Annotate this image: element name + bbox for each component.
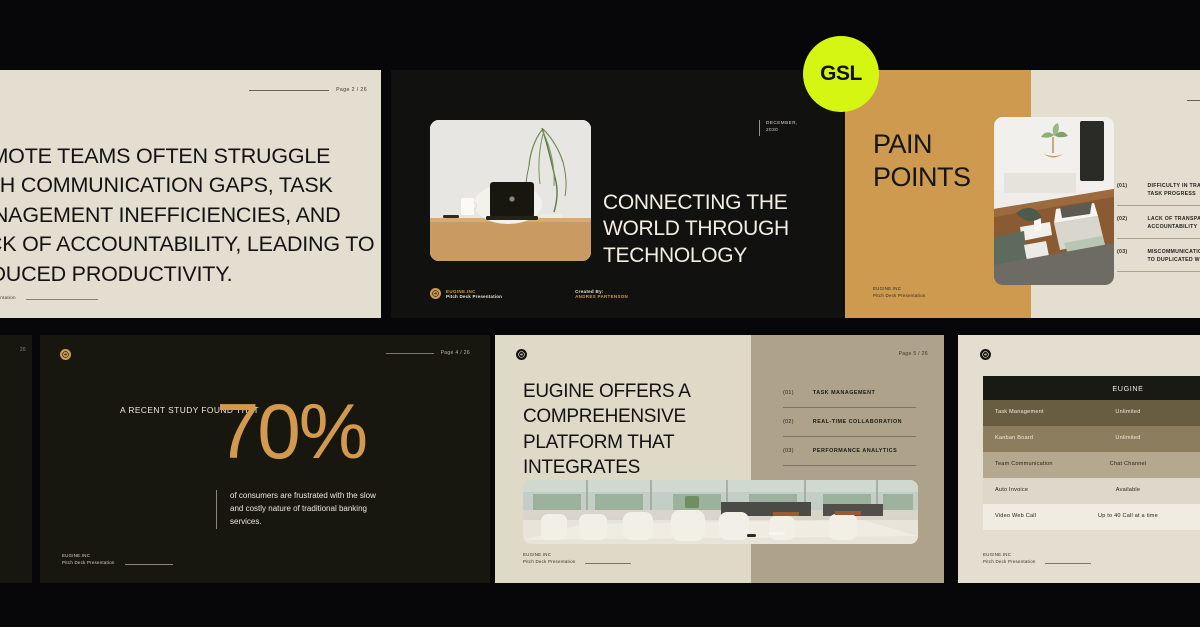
slide-title-cover[interactable]: DECEMBER, 2030 CONNECTING THE WORLD THRO… xyxy=(391,70,859,318)
list-item[interactable]: (02) LACK OF TRANSPARENT ACCOUNTABILITY xyxy=(1117,215,1200,239)
list-item-line-1: LACK OF TRANSPARENT xyxy=(1147,216,1200,222)
list-item-number: (02) xyxy=(1117,215,1127,231)
cell-feature: Task Management xyxy=(983,400,1080,426)
cell-feature: Team Communication xyxy=(983,452,1080,478)
eugine-logo-icon xyxy=(980,349,991,360)
list-item-number: (03) xyxy=(1117,248,1127,264)
comparison-table: EUGINE TASKY Task Management Unlimited 2… xyxy=(983,376,1200,530)
stat-description: of consumers are frustrated with the slo… xyxy=(216,490,386,529)
stat-value: 70% xyxy=(216,393,366,469)
divider-line xyxy=(585,563,631,564)
divider-line xyxy=(125,564,173,565)
slide-problem-statement[interactable]: Page 2 / 26 REMOTE TEAMS OFTEN STRUGGLE … xyxy=(0,70,381,318)
conference-room-photo xyxy=(523,480,918,544)
pain-points-list: (01) DIFFICULTY IN TRACKING TASK PROGRES… xyxy=(1117,182,1200,272)
slide-title: PAIN POINTS xyxy=(873,128,971,194)
slide-credits: EUGINE.INC Pitch Deck Presentation Creat… xyxy=(430,288,628,299)
slide-headline: EUGINE OFFERS A COMPREHENSIVE PLATFORM T… xyxy=(523,379,773,480)
divider-line xyxy=(249,90,329,91)
list-item-line-2: ACCOUNTABILITY xyxy=(1147,224,1197,230)
list-item[interactable]: (01) DIFFICULTY IN TRACKING TASK PROGRES… xyxy=(1117,182,1200,206)
footer-brand: EUGINE.INC Pitch Deck Presentation xyxy=(983,552,1036,566)
list-item-label: TASK MANAGEMENT xyxy=(813,390,876,396)
slide-pain-points[interactable]: PAIN POINTS xyxy=(845,70,1200,318)
slide-footer: EUGINE.INC Pitch Deck Presentation xyxy=(62,553,173,567)
table-row: Team Communication Chat Channel Chat xyxy=(983,452,1200,478)
page-number-label: Page 4 / 26 xyxy=(441,350,470,356)
cell-eugine: Available xyxy=(1080,478,1177,504)
footer-brand-name: EUGINE.INC xyxy=(873,286,926,293)
cell-eugine: Unlimited xyxy=(1080,426,1177,452)
footer-brand-name: EUGINE.INC xyxy=(983,552,1036,559)
slide-title: CONNECTING THE WORLD THROUGH TECHNOLOGY xyxy=(603,190,843,269)
cell-feature: Video Web Call xyxy=(983,504,1080,530)
workspace-laptop-photo xyxy=(994,117,1114,285)
table-row: Auto Invoice Available X xyxy=(983,478,1200,504)
column-header-feature xyxy=(983,376,1080,400)
date-line-2: 2030 xyxy=(766,127,798,134)
title-line-1: PAIN xyxy=(873,129,932,159)
list-item-label: MISCOMMUNICATION LEADS TO DUPLICATED WOR… xyxy=(1147,248,1200,264)
footer-brand-tagline: Pitch Deck Presentation xyxy=(873,293,926,300)
cell-feature: Kanban Board xyxy=(983,426,1080,452)
divider-line xyxy=(386,353,434,354)
list-item-line-2: TO DUPLICATED WORK xyxy=(1147,257,1200,263)
footer-brand: EUGINE.INC Pitch Deck Presentation xyxy=(62,553,115,567)
slide-thumbnail-partial-left[interactable]: 26 xyxy=(0,335,32,583)
list-item-label: DIFFICULTY IN TRACKING TASK PROGRESS xyxy=(1147,182,1200,198)
footer-brand-tagline: Pitch Deck Presentation xyxy=(0,295,16,302)
title-line-2: POINTS xyxy=(873,162,971,192)
slide-headline: REMOTE TEAMS OFTEN STRUGGLE WITH COMMUNI… xyxy=(0,142,381,289)
list-item-number: (02) xyxy=(783,419,794,425)
list-item-number: (01) xyxy=(783,390,794,396)
divider-line xyxy=(1187,100,1200,101)
eugine-logo-icon xyxy=(516,349,527,360)
eugine-logo-icon xyxy=(430,288,441,299)
list-item-label: REAL-TIME COLLABORATION xyxy=(813,419,902,425)
column-header-eugine: EUGINE xyxy=(1080,376,1177,400)
cell-feature: Auto Invoice xyxy=(983,478,1080,504)
list-item[interactable]: (03) PERFORMANCE ANALYTICS xyxy=(783,437,916,466)
page-indicator: Page 2 / 26 xyxy=(249,87,367,93)
logo-glyph-icon xyxy=(518,351,525,358)
offer-list: (01) TASK MANAGEMENT (02) REAL-TIME COLL… xyxy=(783,379,916,466)
presentation-mockup-canvas: 26 Page 2 / 26 REMOTE TEAMS OFTEN STRUGG… xyxy=(0,0,1200,627)
divider-line xyxy=(1045,563,1091,564)
list-item-line-1: MISCOMMUNICATION LEADS xyxy=(1147,249,1200,255)
slide-footer: EUGINE.INC Pitch Deck Presentation xyxy=(0,288,98,302)
footer-brand-name: EUGINE.INC xyxy=(62,553,115,560)
slide-statistic[interactable]: Page 4 / 26 A RECENT STUDY FOUND THAT 70… xyxy=(40,335,490,583)
slide-platform-offers[interactable]: Page 5 / 26 EUGINE OFFERS A COMPREHENSIV… xyxy=(495,335,944,583)
date-stamp: DECEMBER, 2030 xyxy=(759,120,798,136)
conference-room-illustration xyxy=(523,480,918,544)
list-item-label: PERFORMANCE ANALYTICS xyxy=(813,448,897,454)
logo-glyph-icon xyxy=(982,351,989,358)
eugine-logo-icon xyxy=(60,349,71,360)
brand-lockup: EUGINE.INC Pitch Deck Presentation xyxy=(430,288,502,299)
desk-laptop-illustration xyxy=(430,120,591,261)
list-item-label: LACK OF TRANSPARENT ACCOUNTABILITY xyxy=(1147,215,1200,231)
footer-brand: EUGINE.INC Pitch Deck Presentation xyxy=(523,552,576,566)
table-header-row: EUGINE TASKY xyxy=(983,376,1200,400)
table-row: Kanban Board Unlimited X xyxy=(983,426,1200,452)
desk-laptop-photo xyxy=(430,120,591,261)
divider-line xyxy=(26,299,98,300)
slide-comparison-table[interactable]: EUGINE TASKY Task Management Unlimited 2… xyxy=(958,335,1200,583)
brand-text: EUGINE.INC Pitch Deck Presentation xyxy=(446,289,502,299)
brand-tagline: Pitch Deck Presentation xyxy=(446,294,502,299)
table-body: Task Management Unlimited 200 To Do's Ka… xyxy=(983,400,1200,530)
logo-glyph-icon xyxy=(62,351,69,358)
cell-eugine: Up to 40 Call at a time xyxy=(1080,504,1177,530)
table-header: EUGINE TASKY xyxy=(983,376,1200,400)
list-item-number: (01) xyxy=(1117,182,1127,198)
list-item-number: (03) xyxy=(783,448,794,454)
created-by-name: ANDRES PARTENSON xyxy=(575,294,628,299)
logo-badge xyxy=(980,349,991,360)
list-item[interactable]: (01) TASK MANAGEMENT xyxy=(783,379,916,408)
footer-brand-tagline: Pitch Deck Presentation xyxy=(523,559,576,566)
logo-badge xyxy=(60,349,71,360)
page-number-label: Page 2 / 26 xyxy=(336,87,367,93)
list-item-line-1: DIFFICULTY IN TRACKING xyxy=(1147,183,1200,189)
list-item[interactable]: (03) MISCOMMUNICATION LEADS TO DUPLICATE… xyxy=(1117,248,1200,272)
page-number-partial: 26 xyxy=(20,347,26,353)
author-credit: Created By: ANDRES PARTENSON xyxy=(575,289,628,299)
cell-tasky: X xyxy=(1176,478,1200,504)
cell-tasky: 200 To Do's xyxy=(1176,400,1200,426)
gsl-logo-text: GSL xyxy=(820,62,862,86)
cell-tasky: X xyxy=(1176,504,1200,530)
column-header-tasky: TASKY xyxy=(1176,376,1200,400)
table-row: Task Management Unlimited 200 To Do's xyxy=(983,400,1200,426)
slide-footer: EUGINE.INC Pitch Deck Presentation xyxy=(983,552,1091,566)
date-text: DECEMBER, 2030 xyxy=(766,120,798,136)
page-indicator: Page 4 / 26 xyxy=(386,350,470,356)
list-item[interactable]: (02) REAL-TIME COLLABORATION xyxy=(783,408,916,437)
workspace-illustration xyxy=(994,117,1114,285)
footer-brand-name: EUGINE.INC xyxy=(523,552,576,559)
slide-footer: EUGINE.INC Pitch Deck Presentation xyxy=(873,286,926,300)
cell-eugine: Chat Channel xyxy=(1080,452,1177,478)
table-row: Video Web Call Up to 40 Call at a time X xyxy=(983,504,1200,530)
list-item-line-2: TASK PROGRESS xyxy=(1147,191,1195,197)
cell-tasky: X xyxy=(1176,426,1200,452)
logo-badge xyxy=(516,349,527,360)
logo-glyph-icon xyxy=(432,290,439,297)
page-number-label: Page 5 / 26 xyxy=(899,351,928,357)
slide-footer: EUGINE.INC Pitch Deck Presentation xyxy=(523,552,631,566)
cell-eugine: Unlimited xyxy=(1080,400,1177,426)
footer-brand-name: EUGINE.INC xyxy=(0,288,16,295)
divider-line xyxy=(759,120,760,136)
gsl-logo-badge[interactable]: GSL xyxy=(803,36,879,112)
footer-brand-tagline: Pitch Deck Presentation xyxy=(983,559,1036,566)
cell-tasky: Chat xyxy=(1176,452,1200,478)
date-line-1: DECEMBER, xyxy=(766,120,798,127)
footer-brand: EUGINE.INC Pitch Deck Presentation xyxy=(0,288,16,302)
footer-brand-tagline: Pitch Deck Presentation xyxy=(62,560,115,567)
